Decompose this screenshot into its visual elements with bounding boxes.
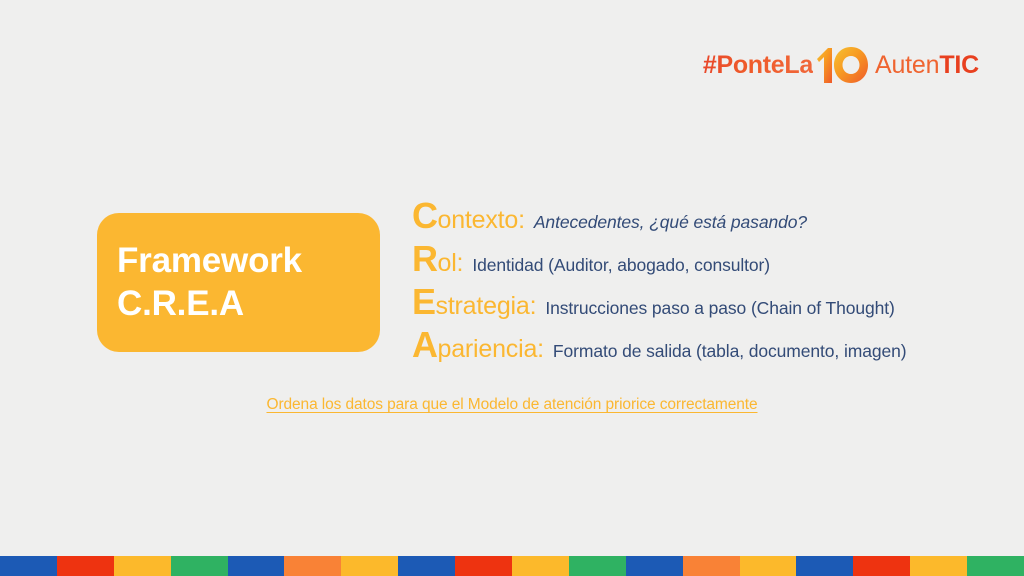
crea-initial-a: A xyxy=(412,329,438,361)
framework-title-line-1: Framework xyxy=(117,240,380,283)
bottom-bar-segment xyxy=(967,556,1024,576)
bottom-bar-segment xyxy=(569,556,626,576)
bottom-bar-segment xyxy=(171,556,228,576)
crea-description-contexto: Antecedentes, ¿qué está pasando? xyxy=(534,212,807,233)
bottom-bar-segment xyxy=(512,556,569,576)
bottom-bar-segment xyxy=(0,556,57,576)
crea-term-rol: Rol: xyxy=(412,243,463,278)
crea-row-apariencia: Apariencia: Formato de salida (tabla, do… xyxy=(412,329,1002,372)
crea-initial-e: E xyxy=(412,286,436,318)
crea-term-rest-apariencia: pariencia: xyxy=(438,335,544,364)
logo-auten-text: Auten xyxy=(875,51,939,80)
crea-initial-c: C xyxy=(412,200,438,232)
bottom-bar-segment xyxy=(853,556,910,576)
bottom-bar-segment xyxy=(455,556,512,576)
footnote-text: Ordena los datos para que el Modelo de a… xyxy=(0,396,1024,414)
crea-term-apariencia: Apariencia: xyxy=(412,329,544,364)
crea-row-contexto: Contexto: Antecedentes, ¿qué está pasand… xyxy=(412,200,1002,243)
crea-description-rol: Identidad (Auditor, abogado, consultor) xyxy=(472,255,770,276)
bottom-bar-segment xyxy=(57,556,114,576)
bottom-bar-segment xyxy=(114,556,171,576)
crea-description-estrategia: Instrucciones paso a paso (Chain of Thou… xyxy=(545,298,894,319)
crea-initial-r: R xyxy=(412,243,438,275)
bottom-bar-segment xyxy=(284,556,341,576)
bottom-bar-segment xyxy=(910,556,967,576)
crea-row-estrategia: Estrategia: Instrucciones paso a paso (C… xyxy=(412,286,1002,329)
bottom-bar-segment xyxy=(398,556,455,576)
crea-term-estrategia: Estrategia: xyxy=(412,286,536,321)
crea-list: Contexto: Antecedentes, ¿qué está pasand… xyxy=(412,200,1002,372)
crea-term-rest-estrategia: strategia: xyxy=(436,292,537,321)
logo-tic-text: TIC xyxy=(939,51,979,80)
bottom-bar-segment xyxy=(228,556,285,576)
logo-ten-numeral-icon xyxy=(811,45,869,85)
logo-ponte-la-text: #PonteLa xyxy=(703,51,813,80)
bottom-bar-segment xyxy=(626,556,683,576)
crea-term-rest-contexto: ontexto: xyxy=(438,206,525,235)
bottom-bar-segment xyxy=(796,556,853,576)
crea-description-apariencia: Formato de salida (tabla, documento, ima… xyxy=(553,341,907,362)
bottom-bar-segment xyxy=(740,556,797,576)
bottom-color-bar xyxy=(0,556,1024,576)
framework-title-line-2: C.R.E.A xyxy=(117,283,380,326)
crea-term-contexto: Contexto: xyxy=(412,200,525,235)
crea-term-rest-rol: ol: xyxy=(438,249,464,278)
bottom-bar-segment xyxy=(341,556,398,576)
brand-logo: #PonteLa Auten TIC xyxy=(703,45,979,85)
bottom-bar-segment xyxy=(683,556,740,576)
crea-row-rol: Rol: Identidad (Auditor, abogado, consul… xyxy=(412,243,1002,286)
framework-card: Framework C.R.E.A xyxy=(97,213,380,352)
